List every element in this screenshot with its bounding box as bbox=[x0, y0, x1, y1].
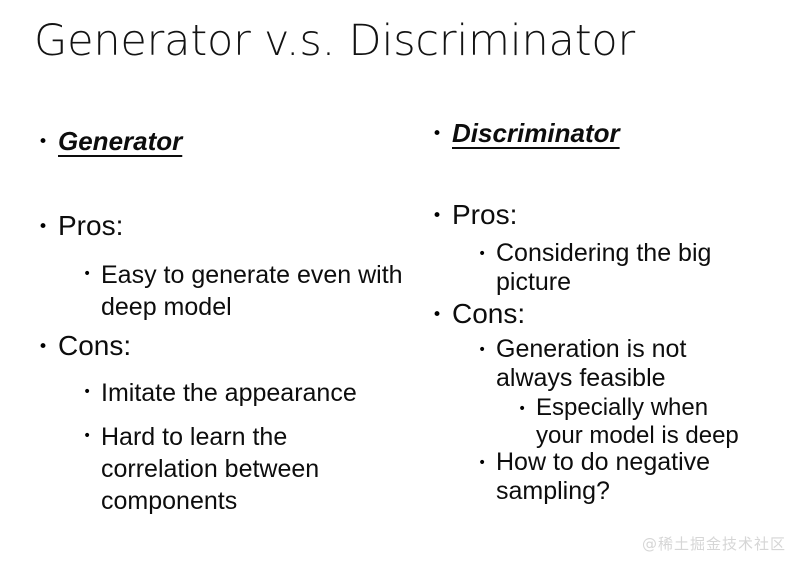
list-item-label: How to do negative sampling? bbox=[496, 448, 728, 506]
list-item-label: Easy to generate even with deep model bbox=[101, 259, 403, 323]
bullet-glyph-icon: • bbox=[518, 394, 526, 424]
bullet-glyph-icon: • bbox=[38, 125, 48, 159]
list-item-label: Cons: bbox=[452, 297, 792, 330]
list-item-label: Imitate the appearance bbox=[101, 377, 413, 409]
bullet-glyph-icon: • bbox=[478, 448, 486, 479]
bullet-glyph-icon: • bbox=[83, 377, 91, 408]
page-title: Generator v.s. Discriminator bbox=[34, 14, 754, 68]
left-heading-label: Generator bbox=[58, 125, 188, 157]
bullet-glyph-icon: • bbox=[83, 259, 91, 290]
bullet-glyph-icon: • bbox=[432, 198, 442, 234]
bullet-glyph-icon: • bbox=[38, 329, 48, 365]
list-item: • Imitate the appearance bbox=[83, 377, 413, 409]
list-item: • Pros: bbox=[38, 209, 398, 242]
list-item: • Cons: bbox=[38, 329, 398, 362]
list-item-label: Considering the big picture bbox=[496, 239, 738, 297]
bullet-glyph-icon: • bbox=[38, 209, 48, 245]
list-item: • Easy to generate even with deep model bbox=[83, 259, 403, 323]
bullet-glyph-icon: • bbox=[478, 239, 486, 270]
list-item: • Hard to learn the correlation between … bbox=[83, 421, 373, 517]
list-item-label: Especially when your model is deep bbox=[536, 394, 748, 450]
bullet-glyph-icon: • bbox=[83, 421, 91, 452]
bullet-glyph-icon: • bbox=[432, 297, 442, 333]
list-item-label: Pros: bbox=[58, 209, 398, 242]
slide-canvas: Generator v.s. Discriminator • Generator… bbox=[0, 0, 798, 564]
left-column-heading: • Generator bbox=[38, 125, 398, 157]
list-item: • Cons: bbox=[432, 297, 792, 330]
bullet-glyph-icon: • bbox=[478, 335, 486, 366]
right-heading-label: Discriminator bbox=[452, 117, 626, 149]
list-item-label: Cons: bbox=[58, 329, 398, 362]
list-item: • How to do negative sampling? bbox=[478, 448, 728, 506]
list-item: • Pros: bbox=[432, 198, 792, 231]
list-item-label: Pros: bbox=[452, 198, 792, 231]
list-item-label: Generation is not always feasible bbox=[496, 335, 728, 393]
list-item-label: Hard to learn the correlation between co… bbox=[101, 421, 373, 517]
list-item: • Especially when your model is deep bbox=[518, 394, 748, 450]
list-item: • Generation is not always feasible bbox=[478, 335, 728, 393]
list-item: • Considering the big picture bbox=[478, 239, 738, 297]
watermark: @稀土掘金技术社区 bbox=[642, 533, 786, 554]
bullet-glyph-icon: • bbox=[432, 117, 442, 151]
right-column-heading: • Discriminator bbox=[432, 117, 792, 149]
